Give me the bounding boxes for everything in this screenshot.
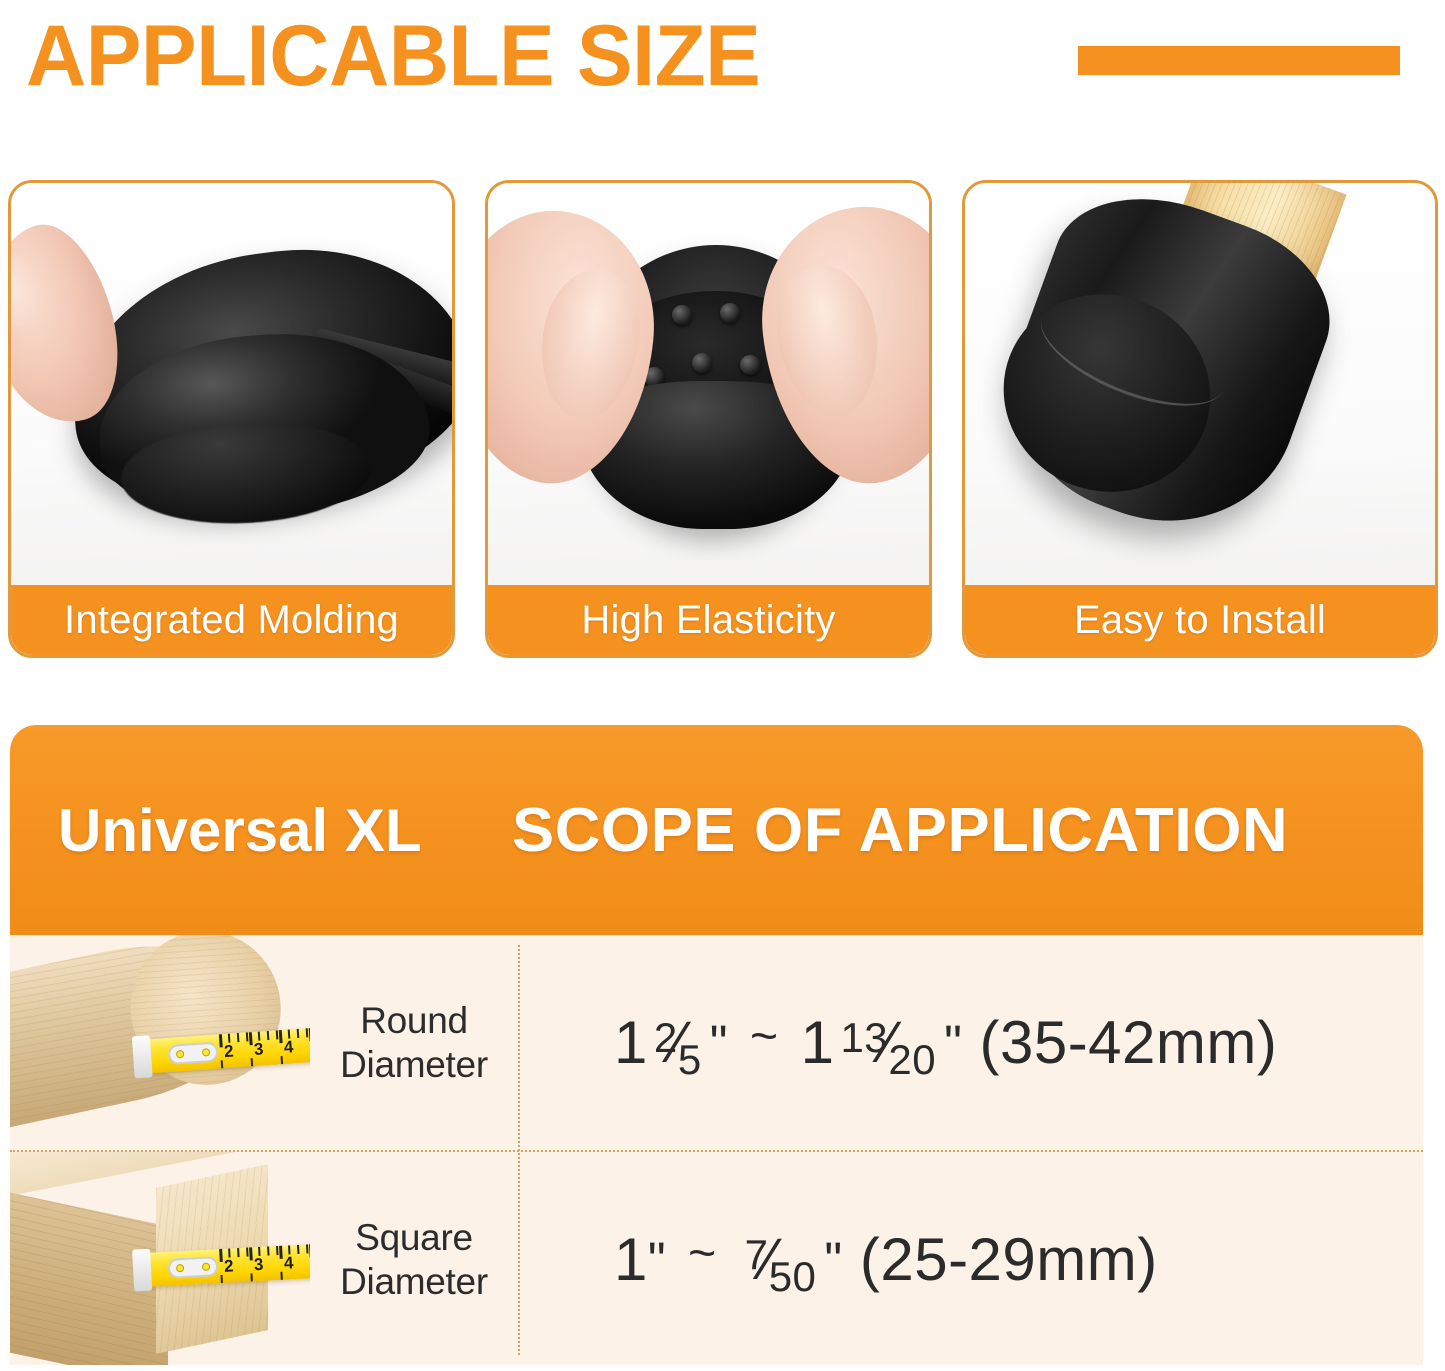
tape-clip: [167, 1042, 218, 1065]
tape-clip: [168, 1256, 219, 1279]
value-to-whole: 1: [801, 1008, 835, 1077]
feature-photo-easy-to-install: [965, 183, 1435, 595]
spec-table: 2 3 4 5 Round Diameter 12⁄5"~113⁄20" (: [10, 935, 1423, 1365]
row-label-line2: Diameter: [310, 1260, 518, 1304]
tape-ticks: 2 3 4 5: [219, 1243, 310, 1283]
row-label-line1: Round: [310, 999, 518, 1043]
scope-title: SCOPE OF APPLICATION: [512, 795, 1288, 866]
feature-photo-high-elasticity: [488, 183, 929, 595]
value-from-fraction: 2⁄5: [650, 1009, 708, 1076]
fraction-denominator: 20: [888, 1036, 936, 1083]
feature-photo-integrated-molding: [11, 183, 452, 595]
value-from-whole: 1: [614, 1008, 648, 1077]
table-row: 2 3 4 5 Round Diameter 12⁄5"~113⁄20" (: [10, 935, 1423, 1152]
spec-panel-header: Universal XL SCOPE OF APPLICATION: [10, 725, 1423, 935]
spec-panel: Universal XL SCOPE OF APPLICATION 2 3: [10, 725, 1423, 1365]
fraction-numerator: 13: [840, 1014, 888, 1061]
feature-card-list: Integrated Molding High El: [8, 180, 1438, 658]
tape-hook: [132, 1035, 153, 1078]
row-label: Round Diameter: [310, 999, 518, 1086]
feature-card-easy-to-install: Easy to Install: [962, 180, 1438, 658]
square-dowel-illustration: 2 3 4 5: [10, 1152, 310, 1365]
column-divider: [518, 945, 520, 1355]
inch-mark: ": [648, 1231, 666, 1289]
value-metric: (25-29mm): [860, 1225, 1158, 1294]
feature-caption: High Elasticity: [488, 585, 929, 655]
feature-caption: Integrated Molding: [11, 585, 452, 655]
feature-caption: Easy to Install: [965, 585, 1435, 655]
inch-mark: ": [710, 1014, 728, 1072]
thumbnail-highlight: [11, 244, 57, 337]
size-label: Universal XL: [58, 796, 422, 865]
value-to-fraction: 7⁄50: [741, 1226, 823, 1293]
feature-card-integrated-molding: Integrated Molding: [8, 180, 455, 658]
page-title: APPLICABLE SIZE: [26, 13, 760, 99]
tape-ticks: 2 3 4 5: [219, 1027, 310, 1069]
value-from-whole: 1: [614, 1225, 648, 1294]
title-accent-bar: [1078, 46, 1400, 75]
value-to-fraction: 13⁄20: [836, 1009, 942, 1076]
fraction-numerator: 7: [745, 1231, 769, 1278]
tape-hook: [132, 1249, 152, 1292]
table-row: 2 3 4 5 Square Diameter 1"~7⁄50" (25-2: [10, 1152, 1423, 1365]
fraction-denominator: 50: [769, 1253, 817, 1300]
round-dowel-illustration: 2 3 4 5: [10, 935, 310, 1150]
fraction-numerator: 2: [654, 1014, 678, 1061]
row-label-line2: Diameter: [310, 1043, 518, 1087]
value-metric: (35-42mm): [979, 1008, 1277, 1077]
row-label: Square Diameter: [310, 1216, 518, 1303]
row-value: 12⁄5"~113⁄20" (35-42mm): [518, 1008, 1423, 1077]
range-separator: ~: [750, 1009, 779, 1064]
inch-mark: ": [944, 1014, 962, 1072]
inch-mark: ": [824, 1231, 842, 1289]
range-separator: ~: [688, 1226, 717, 1281]
feature-card-high-elasticity: High Elasticity: [485, 180, 932, 658]
row-value: 1"~7⁄50" (25-29mm): [518, 1225, 1423, 1294]
row-label-line1: Square: [310, 1216, 518, 1260]
fraction-denominator: 5: [678, 1036, 702, 1083]
